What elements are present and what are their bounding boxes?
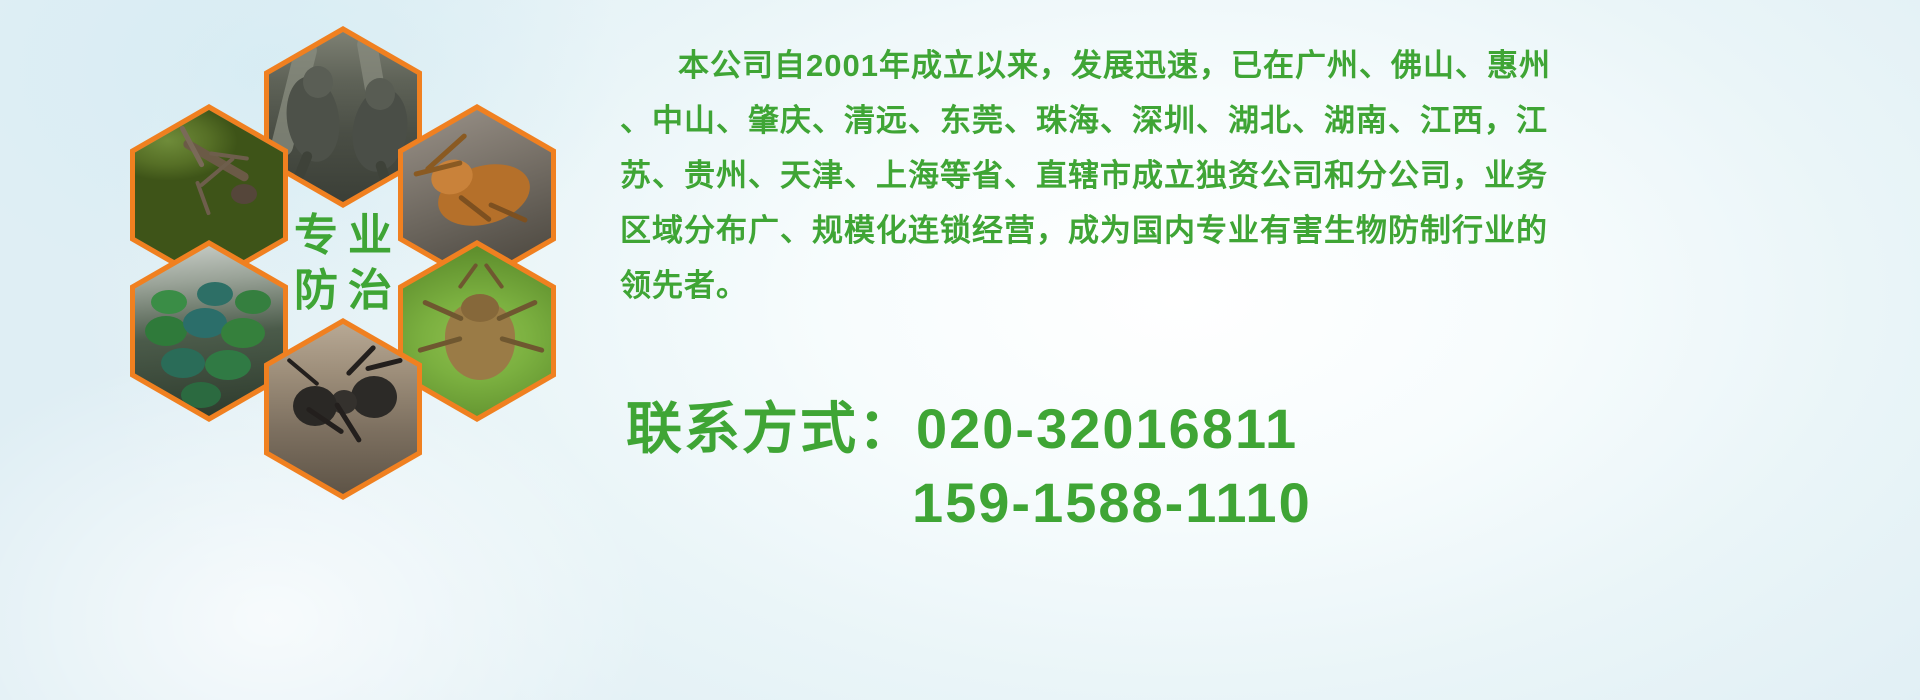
- contact-secondary-line[interactable]: 159-1588-1110: [626, 466, 1896, 540]
- badge-line-1: 专业: [284, 211, 402, 260]
- badge-line-2: 防治: [284, 266, 402, 315]
- description-line-4: 区域分布广、规模化连锁经营，成为国内专业有害生物防制行业的: [620, 203, 1890, 258]
- description-line-5: 领先者。: [620, 258, 1890, 313]
- promo-banner: 专业 防治: [0, 0, 1920, 700]
- description-line-2: 、中山、肇庆、清远、东莞、珠海、深圳、湖北、湖南、江西，江: [620, 93, 1890, 148]
- contact-primary-line[interactable]: 联系方式：020-32016811: [626, 392, 1896, 466]
- hexagon-photo-cluster: 专业 防治: [86, 8, 606, 588]
- hex-cell-ant-inner: [269, 324, 417, 494]
- hex-cell-flies-inner: [135, 246, 283, 416]
- hex-cell-stinkbug-inner: [403, 246, 551, 416]
- description-line-3: 苏、贵州、天津、上海等省、直辖市成立独资公司和分公司，业务: [620, 148, 1890, 203]
- company-description: 本公司自2001年成立以来，发展迅速，已在广州、佛山、惠州 、中山、肇庆、清远、…: [620, 38, 1890, 313]
- flies-photo: [135, 246, 283, 416]
- contact-block: 联系方式：020-32016811 159-1588-1110: [626, 392, 1896, 540]
- ant-photo: [269, 324, 417, 494]
- description-line-1: 本公司自2001年成立以来，发展迅速，已在广州、佛山、惠州: [620, 38, 1890, 93]
- stinkbug-photo: [403, 246, 551, 416]
